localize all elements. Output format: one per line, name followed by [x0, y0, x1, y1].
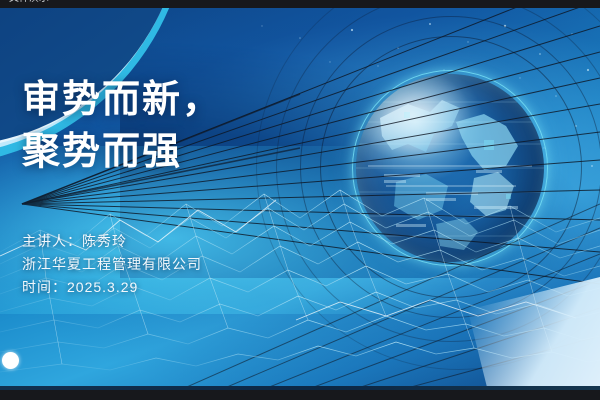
headline-line-2: 聚势而强	[22, 126, 222, 178]
window-title-bar: 文件演示	[0, 0, 600, 8]
slide-headline: 审势而新， 聚势而强	[22, 74, 222, 178]
slide-meta-block: 主讲人：陈秀玲 浙江华夏工程管理有限公司 时间：2025.3.29	[22, 230, 202, 299]
headline-line-1: 审势而新，	[22, 74, 222, 126]
company-line: 浙江华夏工程管理有限公司	[22, 253, 202, 276]
presenter-line: 主讲人：陈秀玲	[22, 230, 202, 253]
slide-canvas[interactable]: 审势而新， 聚势而强 主讲人：陈秀玲 浙江华夏工程管理有限公司 时间：2025.…	[0, 8, 600, 390]
pointer-dot-icon[interactable]	[2, 352, 19, 369]
presentation-window: 文件演示	[0, 0, 600, 400]
date-line: 时间：2025.3.29	[22, 276, 202, 299]
window-title: 文件演示	[9, 0, 49, 4]
window-bottom-bar	[0, 390, 600, 400]
